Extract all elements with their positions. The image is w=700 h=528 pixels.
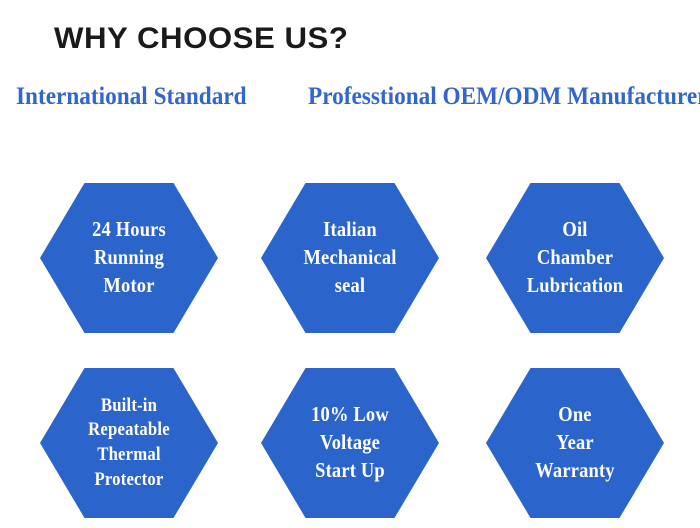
feature-hexagon-10-percent-low-voltage-start-up[interactable]: 10% Low Voltage Start Up <box>261 368 439 518</box>
feature-hexagon-label: Oil Chamber Lubrication <box>497 183 654 333</box>
feature-hexagon-oil-chamber-lubrication[interactable]: Oil Chamber Lubrication <box>486 183 664 333</box>
feature-hexagon-built-in-repeatable-thermal-protector[interactable]: Built-in Repeatable Thermal Protector <box>40 368 218 518</box>
why-choose-us-slide: WHY CHOOSE US? International Standard Pr… <box>0 0 700 528</box>
feature-hexagon-label: Built-in Repeatable Thermal Protector <box>51 368 208 518</box>
feature-hexagon-label: 24 Hours Running Motor <box>51 183 208 333</box>
feature-hexagon-label: One Year Warranty <box>497 368 654 518</box>
feature-hexagon-grid: 24 Hours Running Motor Italian Mechanica… <box>0 0 700 528</box>
feature-hexagon-24-hours-running-motor[interactable]: 24 Hours Running Motor <box>40 183 218 333</box>
feature-hexagon-label: Italian Mechanical seal <box>272 183 429 333</box>
feature-hexagon-italian-mechanical-seal[interactable]: Italian Mechanical seal <box>261 183 439 333</box>
feature-hexagon-one-year-warranty[interactable]: One Year Warranty <box>486 368 664 518</box>
feature-hexagon-label: 10% Low Voltage Start Up <box>272 368 429 518</box>
